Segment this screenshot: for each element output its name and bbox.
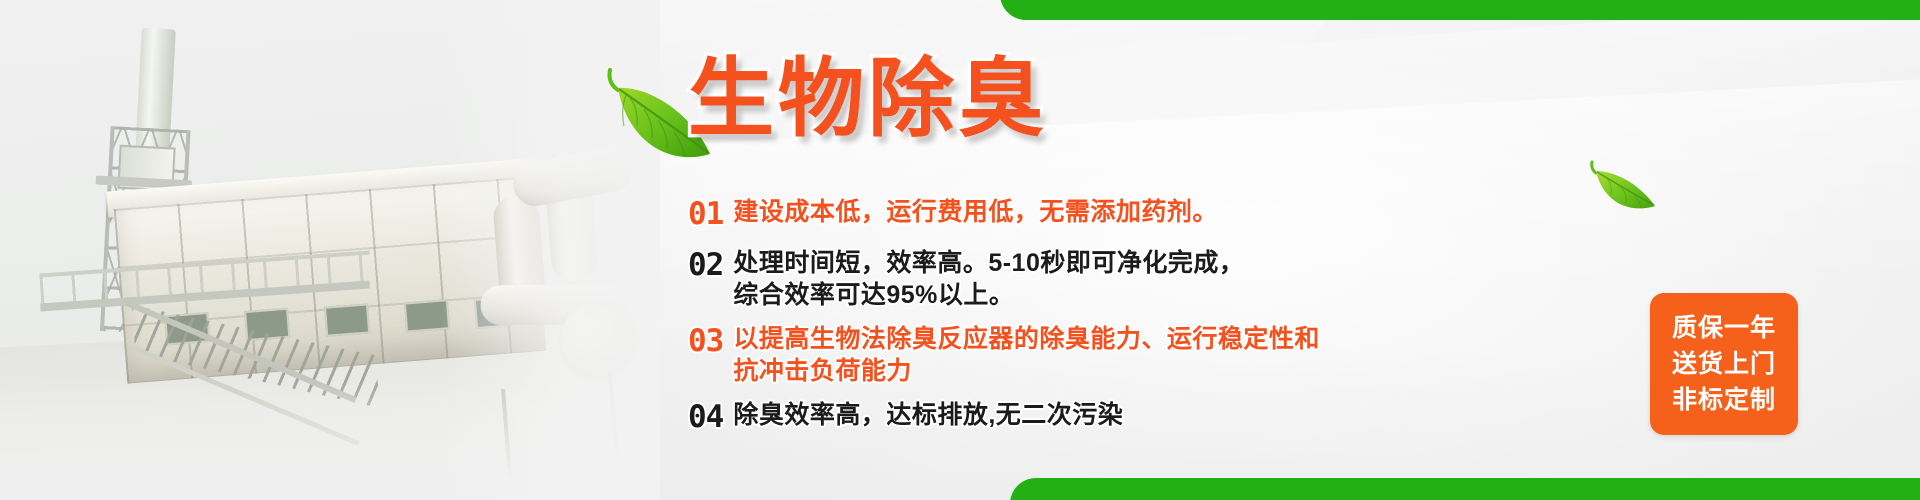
page-title: 生物除臭	[688, 56, 1048, 142]
promo-banner: 生物除臭 生物除臭 01 建设成本低，运行费用低，无需添加药剂。 02 处理时间…	[0, 0, 1920, 500]
list-item: 03 以提高生物法除臭反应器的除臭能力、运行稳定性和 抗冲击负荷能力	[688, 323, 1508, 387]
list-item-number: 03	[688, 323, 723, 360]
badge-line-warranty: 质保一年	[1672, 310, 1776, 346]
list-item-text: 除臭效率高，达标排放,无二次污染	[733, 399, 1123, 431]
badge-line-custom: 非标定制	[1672, 382, 1776, 418]
list-item: 01 建设成本低，运行费用低，无需添加药剂。	[688, 196, 1508, 233]
product-photo	[0, 0, 660, 500]
list-item-text: 以提高生物法除臭反应器的除臭能力、运行稳定性和 抗冲击负荷能力	[733, 323, 1320, 387]
green-bar-top	[1000, 0, 1920, 20]
list-item-number: 04	[688, 399, 723, 436]
guarantee-badge: 质保一年 送货上门 非标定制	[1650, 293, 1798, 435]
list-item: 04 除臭效率高，达标排放,无二次污染	[688, 399, 1508, 436]
leaf-icon	[1583, 158, 1661, 216]
list-item-line: 抗冲击负荷能力	[733, 355, 1320, 387]
list-item-line: 以提高生物法除臭反应器的除臭能力、运行稳定性和	[733, 325, 1320, 353]
list-item-line: 处理时间短，效率高。5-10秒即可净化完成，	[733, 249, 1244, 277]
badge-line-delivery: 送货上门	[1672, 346, 1776, 382]
feature-list: 01 建设成本低，运行费用低，无需添加药剂。 02 处理时间短，效率高。5-10…	[688, 196, 1508, 445]
list-item-text: 处理时间短，效率高。5-10秒即可净化完成， 综合效率可达95%以上。	[733, 247, 1244, 311]
list-item-number: 02	[688, 247, 723, 284]
list-item-text: 建设成本低，运行费用低，无需添加药剂。	[733, 196, 1218, 228]
list-item-line: 建设成本低，运行费用低，无需添加药剂。	[733, 198, 1218, 226]
green-bar-bottom	[1010, 478, 1920, 500]
list-item-line: 综合效率可达95%以上。	[733, 279, 1244, 311]
list-item: 02 处理时间短，效率高。5-10秒即可净化完成， 综合效率可达95%以上。	[688, 247, 1508, 311]
list-item-line: 除臭效率高，达标排放,无二次污染	[733, 401, 1123, 429]
list-item-number: 01	[688, 196, 723, 233]
